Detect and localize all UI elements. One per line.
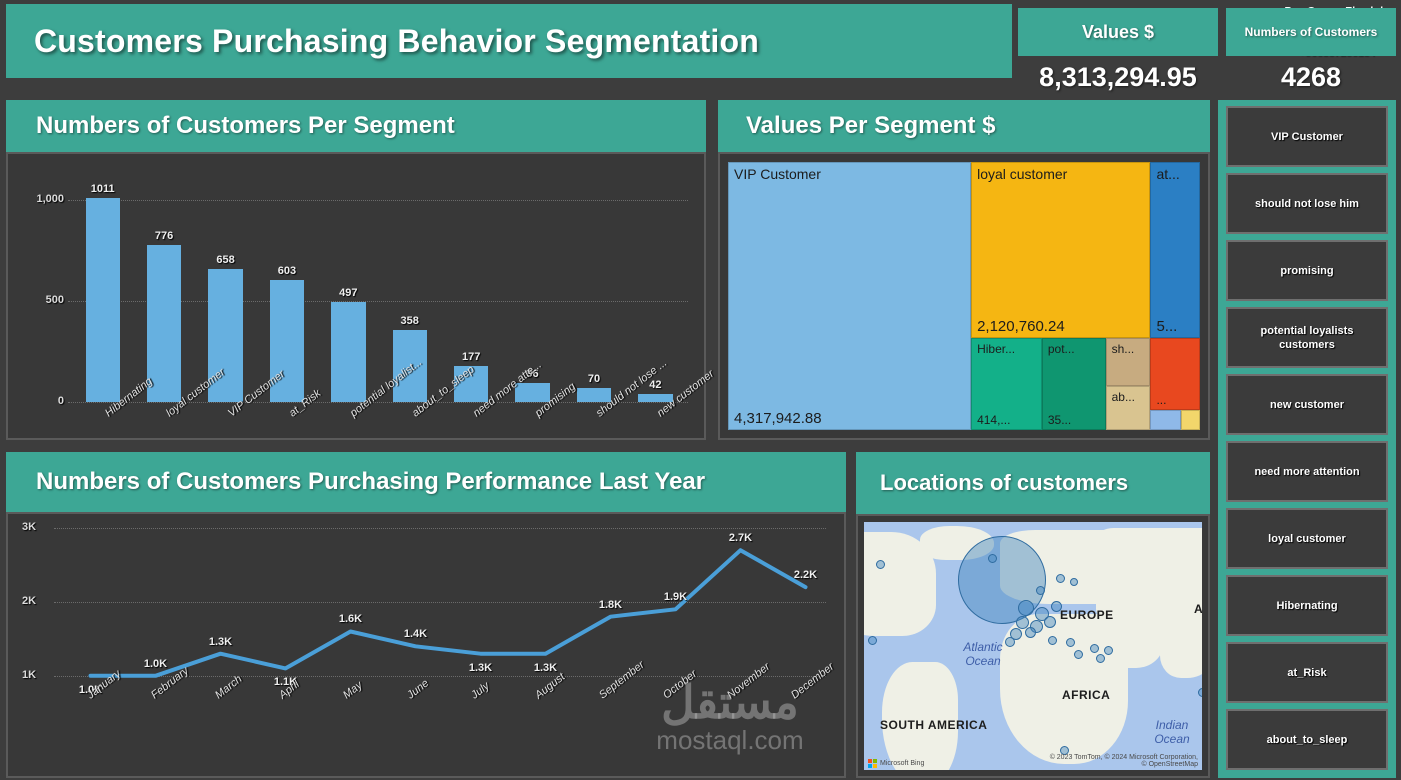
bar-x-tick: need more atte...: [440, 408, 501, 448]
bar-x-tick: new customer: [625, 408, 686, 448]
map-title: Locations of customers: [856, 452, 1210, 514]
bar-value-label: 658: [216, 254, 234, 266]
line-path: [91, 550, 806, 676]
slicer-button-potential-loyalists-customers[interactable]: potential loyalists customers: [1226, 307, 1388, 368]
map-bubble[interactable]: [1096, 654, 1105, 663]
bar-column[interactable]: 658: [195, 180, 256, 402]
treemap-tile[interactable]: [1150, 410, 1181, 430]
map-osm-credit[interactable]: © OpenStreetMap: [1050, 761, 1198, 768]
bar-chart-title: Numbers of Customers Per Segment: [6, 100, 706, 152]
bar-column[interactable]: 603: [256, 180, 317, 402]
map-bubble[interactable]: [1070, 578, 1078, 586]
treemap-tile[interactable]: ab...: [1106, 386, 1151, 430]
treemap-tile-label: Hiber...: [977, 342, 1015, 356]
bar-column[interactable]: 497: [318, 180, 379, 402]
bar-series[interactable]: 1011776658603497358177967042: [72, 180, 686, 402]
dashboard-page: Customers Purchasing Behavior Segmentati…: [0, 0, 1401, 780]
map-bubble[interactable]: [988, 554, 997, 563]
map-bubble[interactable]: [876, 560, 885, 569]
bar-x-tick: about_to_sleep: [379, 408, 440, 448]
line-point-label: 1.8K: [599, 599, 622, 611]
line-x-tick: June: [378, 692, 442, 752]
bar-y-tick: 500: [22, 294, 64, 306]
bing-label: Microsoft Bing: [880, 760, 924, 767]
bar-x-axis: Hibernatingloyal customerVIP Customerat_…: [72, 408, 686, 448]
bar-value-label: 1011: [91, 183, 115, 195]
treemap-tile[interactable]: sh...: [1106, 338, 1151, 386]
kpi-card-values: Values $ 8,313,294.95: [1018, 8, 1218, 98]
map-copyright: © 2023 TomTom, © 2024 Microsoft Corporat…: [1050, 754, 1198, 761]
label-indian-ocean: Indian Ocean: [1140, 718, 1202, 746]
dashboard-banner: Customers Purchasing Behavior Segmentati…: [6, 4, 1012, 78]
treemap-tile-label: sh...: [1112, 342, 1135, 356]
kpi-values-label: Values $: [1018, 8, 1218, 56]
map-attribution: Microsoft Bing © 2023 TomTom, © 2024 Mic…: [868, 754, 1198, 768]
line-x-tick: February: [122, 692, 186, 752]
treemap-tile-value: ...: [1156, 393, 1166, 407]
bar-value-label: 177: [462, 351, 480, 363]
bar-value-label: 70: [588, 373, 600, 385]
treemap-tile-label: pot...: [1048, 342, 1075, 356]
kpi-card-customers: Numbers of Customers 4268: [1226, 8, 1396, 98]
label-south-america: SOUTH AMERICA: [880, 718, 987, 732]
slicer-button-about-to-sleep[interactable]: about_to_sleep: [1226, 709, 1388, 770]
line-x-tick: January: [58, 692, 122, 752]
slicer-button-hibernating[interactable]: Hibernating: [1226, 575, 1388, 636]
map-bubble[interactable]: [1090, 644, 1099, 653]
line-point-label: 2.7K: [729, 532, 752, 544]
line-x-axis: JanuaryFebruaryMarchAprilMayJuneJulyAugu…: [58, 692, 826, 752]
treemap-tile-value: 2,120,760.24: [977, 318, 1065, 335]
treemap-tile[interactable]: loyal customer2,120,760.24: [971, 162, 1150, 338]
treemap-tile-value: 35...: [1048, 413, 1071, 427]
bar-x-tick: loyal customer: [133, 408, 194, 448]
bar-column[interactable]: 776: [133, 180, 194, 402]
line-point-label: 1.6K: [339, 613, 362, 625]
treemap-tile-label: at...: [1156, 166, 1179, 182]
slicer-button-loyal-customer[interactable]: loyal customer: [1226, 508, 1388, 569]
treemap-title: Values Per Segment $: [718, 100, 1210, 152]
treemap-tile[interactable]: ...: [1150, 338, 1200, 410]
line-y-tick: 2K: [22, 595, 36, 607]
treemap-tile[interactable]: pot...35...: [1042, 338, 1106, 430]
line-x-tick: March: [186, 692, 250, 752]
map-bubble[interactable]: [1198, 688, 1203, 697]
map-bubble[interactable]: [868, 636, 877, 645]
line-point-label: 1.3K: [209, 636, 232, 648]
slicer-button-vip-customer[interactable]: VIP Customer: [1226, 106, 1388, 167]
treemap-tile[interactable]: [1181, 410, 1200, 430]
map-bubble[interactable]: [1104, 646, 1113, 655]
purchasing-performance-panel: Numbers of Customers Purchasing Performa…: [6, 452, 846, 778]
bar-column[interactable]: 70: [563, 180, 624, 402]
bar-value-label: 603: [278, 265, 296, 277]
bar-rect[interactable]: [331, 302, 365, 402]
bar-column[interactable]: 1011: [72, 180, 133, 402]
treemap-tile-value: 5...: [1156, 318, 1177, 335]
bar-rect[interactable]: [147, 245, 181, 402]
line-point-label: 2.2K: [794, 569, 817, 581]
values-per-segment-panel: Values Per Segment $ VIP Customer4,317,9…: [718, 100, 1210, 440]
treemap-tiles[interactable]: VIP Customer4,317,942.88loyal customer2,…: [728, 162, 1200, 430]
bar-y-tick: 0: [22, 395, 64, 407]
bar-chart-body[interactable]: 05001,000 1011776658603497358177967042 H…: [6, 152, 706, 440]
map-bubble[interactable]: [1025, 627, 1036, 638]
slicer-button-promising[interactable]: promising: [1226, 240, 1388, 301]
bar-x-tick: potential loyalist...: [318, 408, 379, 448]
segment-slicer-rail[interactable]: VIP Customershould not lose himpromising…: [1218, 100, 1396, 778]
map-bubble[interactable]: [1048, 636, 1057, 645]
line-point-label: 1.4K: [404, 628, 427, 640]
slicer-button-at-risk[interactable]: at_Risk: [1226, 642, 1388, 703]
label-asia: AS: [1194, 602, 1202, 616]
line-x-tick: November: [698, 692, 762, 752]
line-y-tick: 3K: [22, 521, 36, 533]
bar-x-tick: should not lose ...: [563, 408, 624, 448]
kpi-values-value: 8,313,294.95: [1018, 56, 1218, 98]
line-point-label: 1.3K: [469, 662, 492, 674]
treemap-tile-label: VIP Customer: [734, 166, 821, 182]
map-canvas[interactable]: Atlantic Ocean Indian Ocean EUROPE AFRIC…: [864, 522, 1202, 770]
map-bubble[interactable]: [1074, 650, 1083, 659]
landmass-india: [1160, 614, 1202, 678]
map-bubble[interactable]: [1044, 616, 1056, 628]
map-body[interactable]: Atlantic Ocean Indian Ocean EUROPE AFRIC…: [856, 514, 1210, 778]
microsoft-bing-logo: Microsoft Bing: [868, 759, 924, 768]
bar-y-tick: 1,000: [22, 193, 64, 205]
bar-x-tick: VIP Customer: [195, 408, 256, 448]
bar-value-label: 358: [401, 315, 419, 327]
line-x-tick: September: [570, 692, 634, 752]
treemap-body[interactable]: VIP Customer4,317,942.88loyal customer2,…: [718, 152, 1210, 440]
line-y-tick: 1K: [22, 669, 36, 681]
line-chart-title: Numbers of Customers Purchasing Performa…: [6, 452, 846, 512]
line-x-tick: October: [634, 692, 698, 752]
bar-value-label: 497: [339, 287, 357, 299]
label-europe: EUROPE: [1060, 608, 1114, 622]
slicer-button-need-more-attention[interactable]: need more attention: [1226, 441, 1388, 502]
bar-x-tick: Hibernating: [72, 408, 133, 448]
slicer-button-new-customer[interactable]: new customer: [1226, 374, 1388, 435]
line-x-tick: July: [442, 692, 506, 752]
treemap-tile[interactable]: Hiber...414,...: [971, 338, 1042, 430]
line-x-tick: April: [250, 692, 314, 752]
microsoft-logo-icon: [868, 759, 877, 768]
bar-x-tick: promising: [502, 408, 563, 448]
map-bubble[interactable]: [1056, 574, 1065, 583]
treemap-tile-label: ab...: [1112, 390, 1135, 404]
map-bubble[interactable]: [1005, 637, 1015, 647]
bar-x-tick: at_Risk: [256, 408, 317, 448]
map-bubble[interactable]: [1051, 601, 1062, 612]
line-chart-body[interactable]: 1K2K3K 1.0K1.0K1.3K1.1K1.6K1.4K1.3K1.3K1…: [6, 512, 846, 778]
bar-rect[interactable]: [86, 198, 120, 402]
locations-panel: Locations of customers Atlantic Ocean In…: [856, 452, 1210, 778]
treemap-tile-value: 4,317,942.88: [734, 410, 822, 427]
treemap-tile[interactable]: at...5...: [1150, 162, 1200, 338]
line-point-label: 1.3K: [534, 662, 557, 674]
map-bubble[interactable]: [1066, 638, 1075, 647]
treemap-tile[interactable]: VIP Customer4,317,942.88: [728, 162, 971, 430]
line-chart-plot[interactable]: 1K2K3K 1.0K1.0K1.3K1.1K1.6K1.4K1.3K1.3K1…: [14, 520, 838, 770]
customers-per-segment-panel: Numbers of Customers Per Segment 05001,0…: [6, 100, 706, 440]
treemap-tile-label: loyal customer: [977, 166, 1067, 182]
map-bubble[interactable]: [1018, 600, 1034, 616]
line-x-tick: May: [314, 692, 378, 752]
treemap-tile-value: 414,...: [977, 413, 1010, 427]
label-africa: AFRICA: [1062, 688, 1110, 702]
slicer-button-should-not-lose-him[interactable]: should not lose him: [1226, 173, 1388, 234]
line-x-tick: December: [762, 692, 826, 752]
landmass-north-america: [864, 532, 936, 636]
line-point-label: 1.9K: [664, 591, 687, 603]
map-bubble[interactable]: [1036, 586, 1045, 595]
bar-value-label: 776: [155, 230, 173, 242]
kpi-customers-label: Numbers of Customers: [1226, 8, 1396, 56]
bar-gridline: [68, 402, 688, 403]
bar-chart-plot[interactable]: 05001,000 1011776658603497358177967042 H…: [16, 162, 696, 430]
kpi-customers-value: 4268: [1226, 56, 1396, 98]
line-point-label: 1.0K: [144, 658, 167, 670]
map-bubble[interactable]: [1016, 616, 1029, 629]
page-title: Customers Purchasing Behavior Segmentati…: [34, 23, 759, 60]
line-x-tick: August: [506, 692, 570, 752]
